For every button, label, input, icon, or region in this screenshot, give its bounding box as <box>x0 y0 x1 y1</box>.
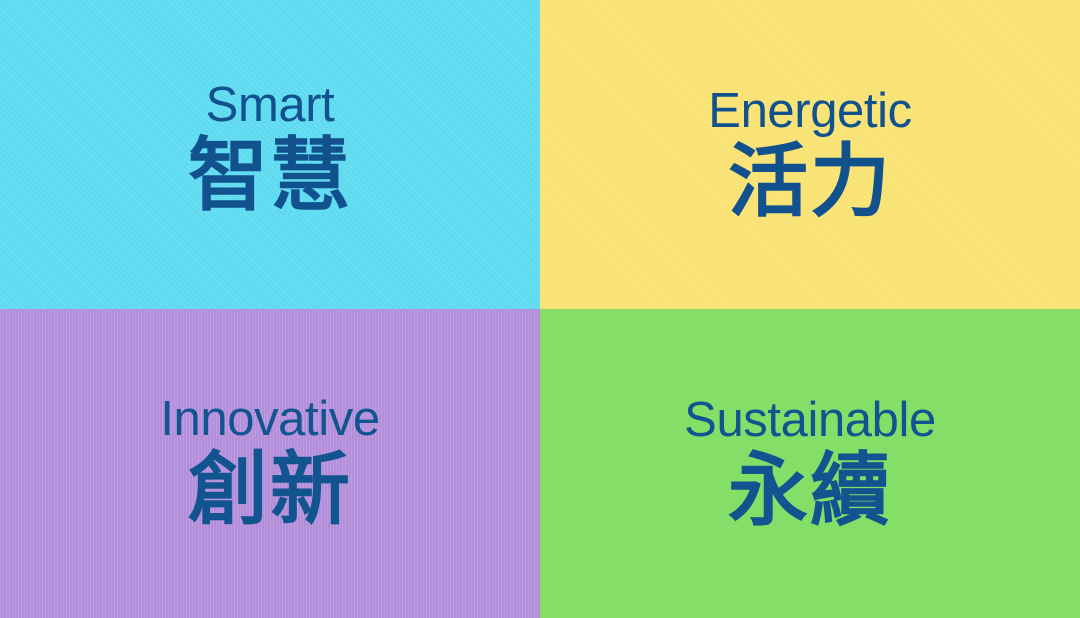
quadrant-energetic-label-en: Energetic <box>708 87 911 136</box>
quadrant-innovative-label-zh: 創新 <box>188 450 352 530</box>
brand-values-quadrant-grid: Smart 智慧 Energetic 活力 Innovative 創新 Sust… <box>0 0 1080 618</box>
quadrant-innovative-label-en: Innovative <box>160 395 379 444</box>
quadrant-smart-label-zh: 智慧 <box>188 136 352 216</box>
quadrant-innovative: Innovative 創新 <box>0 309 540 618</box>
label-stack-sustainable: Sustainable 永續 <box>684 396 936 531</box>
quadrant-energetic-label-zh: 活力 <box>728 142 892 222</box>
quadrant-sustainable-label-en: Sustainable <box>684 396 936 445</box>
label-stack-innovative: Innovative 創新 <box>160 395 379 530</box>
quadrant-sustainable: Sustainable 永續 <box>540 309 1080 618</box>
quadrant-smart-label-en: Smart <box>206 81 335 130</box>
quadrant-energetic: Energetic 活力 <box>540 0 1080 309</box>
quadrant-smart: Smart 智慧 <box>0 0 540 309</box>
label-stack-smart: Smart 智慧 <box>188 81 352 216</box>
quadrant-sustainable-label-zh: 永續 <box>728 451 892 531</box>
label-stack-energetic: Energetic 活力 <box>708 87 911 222</box>
